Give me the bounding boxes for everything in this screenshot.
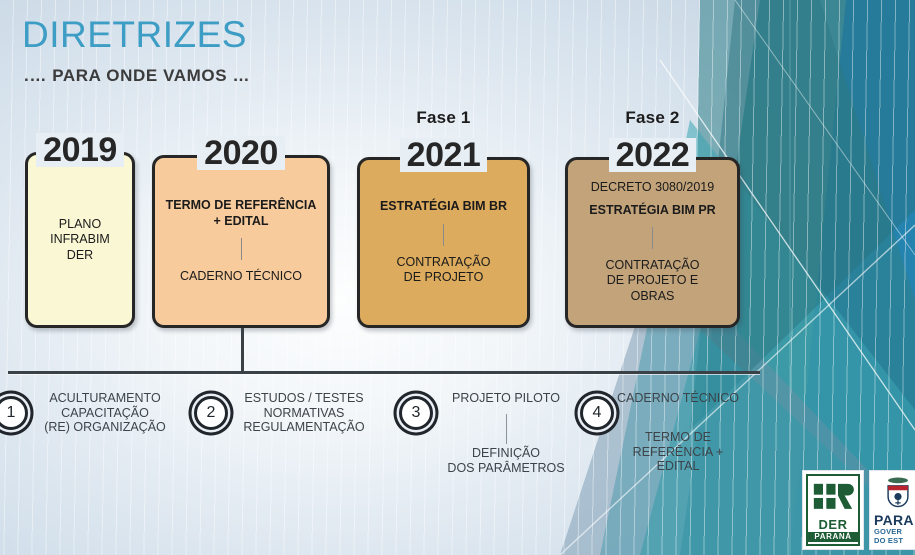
step-3-sub-1: DEFINIÇÃO xyxy=(432,446,580,461)
card-2020-heading: TERMO DE REFERÊNCIA xyxy=(166,198,317,213)
slide-canvas: DIRETRIZES .… PARA ONDE VAMOS … Fase 1 F… xyxy=(0,0,915,555)
step-2-line-3: REGULAMENTAÇÃO xyxy=(228,420,380,435)
step-4-line-1: CADERNO TÉCNICO xyxy=(613,391,743,406)
year-label-2020: 2020 xyxy=(155,136,327,170)
der-emblem-icon xyxy=(808,478,858,518)
card-2020-subtext: CADERNO TÉCNICO xyxy=(180,269,302,285)
der-wordmark: DER xyxy=(819,518,848,531)
card-2022-subtext-3: OBRAS xyxy=(631,289,675,305)
logo-der-parana: DER PARANÁ xyxy=(802,470,864,550)
step-sublabel-3: DEFINIÇÃO DOS PARÂMETROS xyxy=(432,446,580,475)
card-2019-line-2: INFRABIM xyxy=(50,232,110,247)
year-label-2021: 2021 xyxy=(360,138,527,172)
card-2022-subtext-2: DE PROJETO E xyxy=(607,273,698,289)
parana-gov-line-1: GOVER xyxy=(874,527,902,536)
step-4-sub-3: EDITAL xyxy=(613,459,743,474)
year-card-2022[interactable]: 2022 DECRETO 3080/2019 ESTRATÉGIA BIM PR… xyxy=(565,157,740,328)
page-subtitle: .… PARA ONDE VAMOS … xyxy=(24,66,250,86)
step-1-line-3: (RE) ORGANIZAÇÃO xyxy=(30,420,180,435)
step-marker-3[interactable]: 3 xyxy=(399,396,433,430)
card-2020-heading-2: + EDITAL xyxy=(214,214,269,229)
step-label-4: CADERNO TÉCNICO xyxy=(613,391,743,406)
step-2-line-2: NORMATIVAS xyxy=(228,406,380,421)
card-2021-divider xyxy=(443,224,444,246)
step-1-line-1: ACULTURAMENTO xyxy=(30,391,180,406)
card-2020-divider xyxy=(241,238,242,260)
step-label-2: ESTUDOS / TESTES NORMATIVAS REGULAMENTAÇ… xyxy=(228,391,380,435)
card-2022-heading: ESTRATÉGIA BIM PR xyxy=(589,203,715,218)
step-2-line-1: ESTUDOS / TESTES xyxy=(228,391,380,406)
card-2022-divider xyxy=(652,227,653,249)
step-marker-1[interactable]: 1 xyxy=(0,396,28,430)
year-card-2019[interactable]: 2019 PLANO INFRABIM DER xyxy=(25,152,135,328)
step-3-sub-2: DOS PARÂMETROS xyxy=(432,461,580,476)
card-2019-line-1: PLANO xyxy=(59,217,101,232)
card-2021-subtext-2: DE PROJETO xyxy=(404,270,484,286)
parana-wordmark: PARA xyxy=(874,513,914,527)
card-2019-line-3: DER xyxy=(67,248,93,263)
year-label-2019: 2019 xyxy=(28,133,132,167)
logo-governo-parana: PARA GOVER DO EST xyxy=(869,470,915,550)
step-marker-2[interactable]: 2 xyxy=(194,396,228,430)
timeline-axis xyxy=(8,371,760,374)
year-label-2022: 2022 xyxy=(568,138,737,172)
step-3-divider xyxy=(506,414,507,444)
timeline-connector-2020 xyxy=(241,328,244,372)
phase-label-1: Fase 1 xyxy=(357,108,530,128)
card-2021-subtext-1: CONTRATAÇÃO xyxy=(397,255,491,271)
step-sublabel-4: TERMO DE REFERÊNCIA + EDITAL xyxy=(613,430,743,474)
page-title: DIRETRIZES xyxy=(22,14,247,56)
step-3-line-1: PROJETO PILOTO xyxy=(432,391,580,406)
year-card-2020[interactable]: 2020 TERMO DE REFERÊNCIA + EDITAL CADERN… xyxy=(152,155,330,328)
step-label-3: PROJETO PILOTO xyxy=(432,391,580,406)
year-card-2021[interactable]: 2021 ESTRATÉGIA BIM BR CONTRATAÇÃO DE PR… xyxy=(357,157,530,328)
step-label-1: ACULTURAMENTO CAPACITAÇÃO (RE) ORGANIZAÇ… xyxy=(30,391,180,435)
step-4-sub-2: REFERÊNCIA + xyxy=(613,445,743,460)
phase-label-2: Fase 2 xyxy=(565,108,740,128)
step-marker-4[interactable]: 4 xyxy=(580,396,614,430)
step-4-sub-1: TERMO DE xyxy=(613,430,743,445)
card-2022-subtext-1: CONTRATAÇÃO xyxy=(606,258,700,274)
card-2021-heading: ESTRATÉGIA BIM BR xyxy=(380,199,507,214)
step-1-line-2: CAPACITAÇÃO xyxy=(30,406,180,421)
der-state-label: PARANÁ xyxy=(808,532,858,542)
card-2022-decree: DECRETO 3080/2019 xyxy=(591,180,714,195)
parana-coat-of-arms-icon xyxy=(880,475,915,511)
parana-gov-line-2: DO EST xyxy=(874,536,903,545)
